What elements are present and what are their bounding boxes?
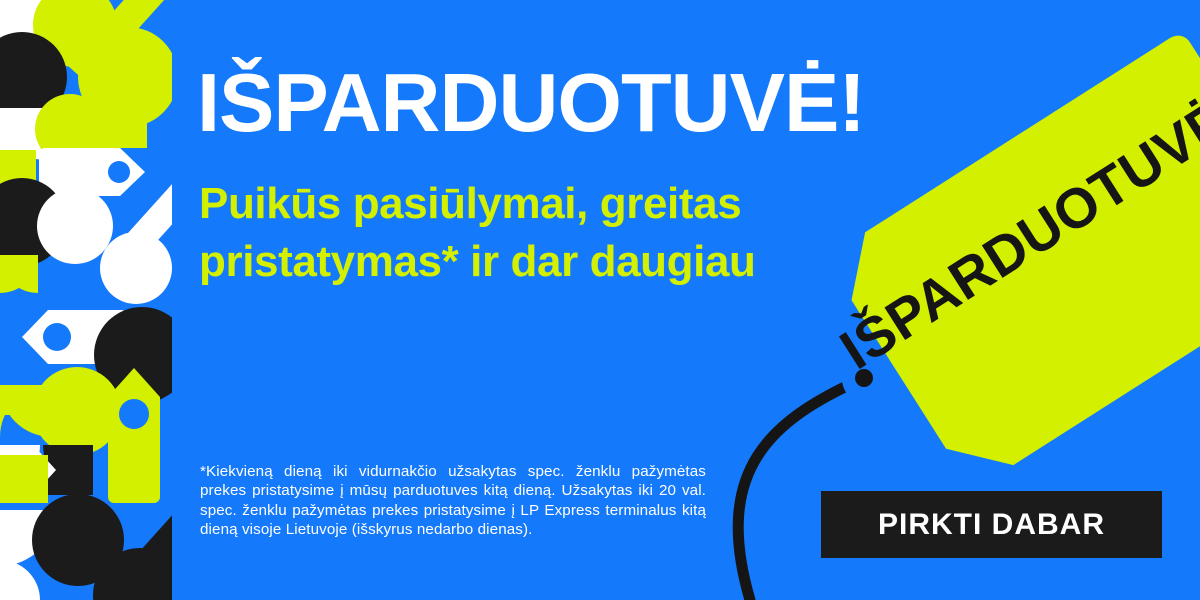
tag-string bbox=[738, 378, 864, 600]
subtitle: Puikūs pasiūlymai, greitas pristatymas* … bbox=[199, 175, 859, 291]
page-title: IŠPARDUOTUVĖ! bbox=[197, 62, 865, 143]
fine-print-disclaimer: *Kiekvieną dieną iki vidurnakčio užsakyt… bbox=[200, 462, 706, 540]
tag-body bbox=[825, 30, 1200, 491]
buy-now-button-label: PIRKTI DABAR bbox=[878, 508, 1105, 542]
buy-now-button[interactable]: PIRKTI DABAR bbox=[821, 491, 1162, 558]
sale-banner: IŠPARDUOTUVĖ! IŠPARDUOTUVĖ! Puikūs pasiū… bbox=[0, 0, 1200, 600]
tag-string-knot bbox=[855, 369, 873, 387]
